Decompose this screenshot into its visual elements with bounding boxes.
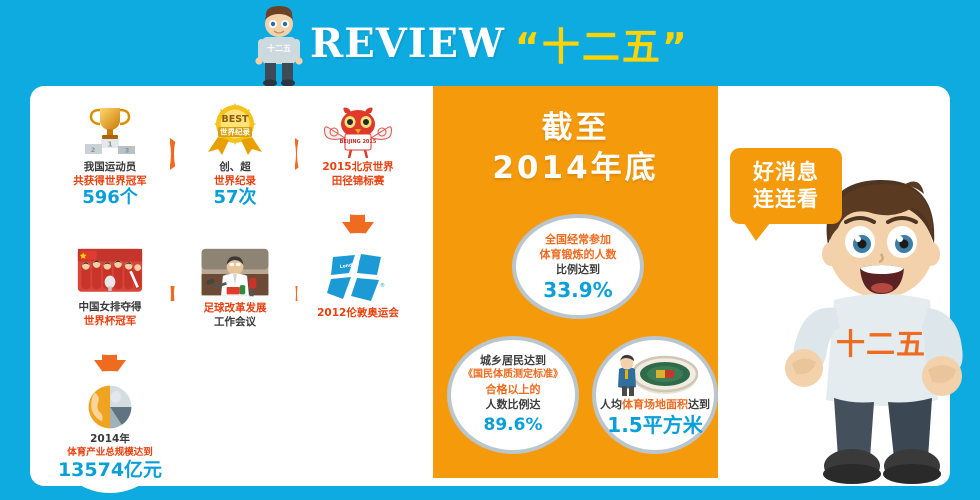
- stat-bubble-venue-area[interactable]: 人均体育场地面积达到 1.5平方米: [592, 336, 718, 454]
- speech-line-2: 连连看: [753, 186, 819, 213]
- center-panel-title-line1: 截至: [433, 108, 718, 148]
- node-line: 世界杯冠军: [79, 314, 142, 328]
- stat-line: 体育锻炼的人数: [540, 247, 617, 262]
- node-line: 2014年: [58, 432, 162, 446]
- title-chinese: “十二五”: [515, 16, 689, 71]
- stat-bubble-fitness-standard[interactable]: 城乡居民达到 《国民体质测定标准》 合格以上的 人数比例达 89.6%: [447, 336, 579, 454]
- speech-line-1: 好消息: [753, 159, 819, 186]
- stat-value: 1.5平方米: [607, 413, 702, 437]
- node-line: 共获得世界冠军: [73, 174, 147, 188]
- stat-line: 全国经常参加: [545, 232, 611, 247]
- flow-node-sports-industry[interactable]: 2014年 体育产业总规模达到 13574亿元: [52, 374, 168, 490]
- press-conference-photo: [198, 248, 272, 300]
- node-value: 596个: [73, 188, 147, 208]
- flow-node-world-records[interactable]: BEST 世界纪录 创、超 世界纪录 57次: [177, 96, 293, 212]
- stat-line: 合格以上的: [486, 382, 541, 397]
- center-panel-title-line2: 2014年底: [433, 148, 718, 188]
- svg-text:®: ®: [380, 282, 385, 289]
- mascot-small-icon: 十二五: [248, 2, 310, 86]
- flow-node-football-reform[interactable]: 足球改革发展 工作会议: [177, 236, 293, 352]
- svg-text:2: 2: [91, 146, 96, 154]
- svg-text:十二五: 十二五: [836, 327, 926, 361]
- flow-node-text: 我国运动员 共获得世界冠军 596个: [73, 160, 147, 208]
- flow-node-beijing-2015[interactable]: BEIJING 2015 2015北京世界 田径锦标赛: [300, 96, 416, 212]
- beijing-mascot-icon: BEIJING 2015: [321, 102, 395, 162]
- stat-line: 《国民体质测定标准》: [463, 368, 563, 382]
- speech-bubble: 好消息 连连看: [730, 148, 842, 224]
- node-line: 创、超: [213, 160, 256, 174]
- stat-value: 33.9%: [543, 278, 612, 302]
- infographic-root: 十二五 REVIEW “十二五”: [0, 0, 980, 500]
- flow-node-text: 2015北京世界 田径锦标赛: [322, 160, 393, 188]
- node-line: 世界纪录: [213, 174, 256, 188]
- title-english: REVIEW: [310, 20, 505, 67]
- volleyball-team-photo: [73, 248, 147, 298]
- node-line: 我国运动员: [73, 160, 147, 174]
- flow-node-world-champions[interactable]: 1 2 3 我国运动员 共获得世界冠军 596个: [52, 96, 168, 212]
- flow-node-london-2012[interactable]: London ® 2012伦敦奥运会: [300, 236, 416, 352]
- globe-pie-icon: [73, 382, 147, 432]
- node-line: 工作会议: [204, 315, 267, 329]
- svg-text:世界纪录: 世界纪录: [220, 127, 250, 137]
- svg-text:十二五: 十二五: [267, 43, 291, 53]
- page-title: REVIEW “十二五”: [310, 16, 689, 71]
- node-line: 中国女排夺得: [79, 300, 142, 314]
- best-badge-icon: BEST 世界纪录: [198, 102, 272, 158]
- stat-line: 人均体育场地面积达到: [600, 397, 710, 412]
- stat-bubble-exercise-ratio[interactable]: 全国经常参加 体育锻炼的人数 比例达到 33.9%: [512, 214, 644, 319]
- node-value: 13574亿元: [58, 460, 162, 480]
- stadium-icon: [609, 353, 701, 399]
- node-value: 57次: [213, 188, 256, 208]
- stat-value: 89.6%: [484, 413, 543, 437]
- node-line: 2015北京世界: [322, 160, 393, 174]
- stat-line: 城乡居民达到: [480, 353, 546, 368]
- london-2012-logo-icon: London ®: [321, 248, 395, 310]
- node-line: 足球改革发展: [204, 301, 267, 315]
- svg-text:3: 3: [125, 147, 130, 155]
- svg-text:BEIJING 2015: BEIJING 2015: [340, 139, 377, 145]
- flow-node-text: 创、超 世界纪录 57次: [213, 160, 256, 208]
- svg-text:BEST: BEST: [221, 114, 249, 125]
- svg-text:1: 1: [108, 141, 113, 149]
- flow-node-text: 2014年 体育产业总规模达到 13574亿元: [58, 432, 162, 480]
- trophy-podium-icon: 1 2 3: [73, 102, 147, 158]
- stat-line: 比例达到: [556, 262, 600, 277]
- flow-node-text: 中国女排夺得 世界杯冠军: [79, 300, 142, 328]
- center-panel-title: 截至 2014年底: [433, 108, 718, 188]
- flow-node-womens-volleyball[interactable]: 中国女排夺得 世界杯冠军: [52, 236, 168, 352]
- node-line: 体育产业总规模达到: [58, 446, 162, 460]
- node-line: 田径锦标赛: [322, 174, 393, 188]
- flow-node-text: 足球改革发展 工作会议: [204, 301, 267, 329]
- stat-line: 人数比例达: [486, 397, 541, 412]
